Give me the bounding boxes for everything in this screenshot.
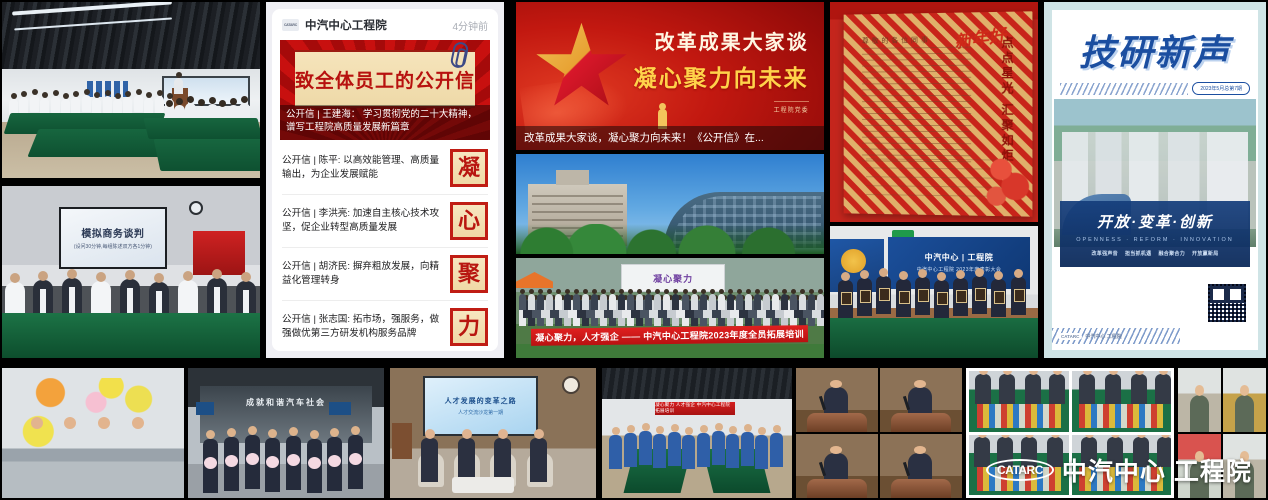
letter-body-text [862, 47, 971, 165]
person [307, 439, 322, 493]
person [591, 294, 598, 310]
screen-subtitle: (设问30分钟,每组陈述双方各1分钟) [74, 243, 152, 250]
panel-discussion-photo[interactable]: 人才发展的变革之路 人才交流沙龙第一期 [390, 368, 596, 498]
person [537, 294, 544, 310]
workshop-grid-photo[interactable] [966, 368, 1174, 498]
panelists [411, 410, 592, 483]
person [82, 95, 91, 112]
person [763, 294, 770, 310]
person [51, 96, 60, 113]
slogan-cn: 开放·变革·创新 [1068, 211, 1242, 232]
person [1190, 461, 1209, 498]
person [697, 433, 710, 467]
ceiling [2, 2, 260, 76]
person [770, 433, 783, 467]
slogan-en: OPENNESS · REFORM · INNOVATION [1068, 237, 1242, 243]
poster-title: 技研新声 [1052, 24, 1258, 76]
banner-text-block: 改革成果大家谈 凝心聚力向未来 工程院党委 [634, 26, 809, 117]
coffee-table [452, 477, 514, 493]
poster-issue-line: 2023年5月总第7期 [1052, 76, 1258, 99]
grass-field [516, 344, 824, 358]
participants [969, 439, 1069, 467]
person [755, 435, 768, 469]
person [754, 294, 761, 310]
award-ceremony-photo[interactable]: 中汽中心 | 工程院 中汽中心工程院 2023年度表彰大会 [830, 226, 1038, 358]
conference-room-image [2, 2, 260, 178]
person [71, 97, 80, 114]
person [59, 427, 81, 493]
person [972, 276, 987, 314]
seal-thumbnail: 聚 [450, 255, 488, 293]
workshop-cell [969, 371, 1069, 432]
participants [1072, 376, 1172, 404]
game-cards [1079, 467, 1163, 491]
list-item[interactable]: 公开信 | 张志国: 拓市场，强服务，做强做优第三方研发机构服务品牌 力 [282, 301, 488, 351]
video-grid-photo[interactable] [1178, 368, 1266, 498]
article-list: 公开信 | 陈平: 以高效能管理、高质量输出，为企业发展赋能 凝 公开信 | 李… [272, 140, 498, 351]
person [624, 433, 637, 467]
person [736, 294, 743, 310]
person [726, 434, 739, 468]
person [600, 294, 607, 310]
attendees [606, 425, 788, 469]
banner-line-3: 工程院党委 [774, 101, 809, 114]
table [153, 139, 260, 171]
negotiation-training-photo[interactable]: 模拟商务谈判 (设问30分钟,每组陈述双方各1分钟) [2, 186, 260, 358]
person [790, 294, 797, 310]
person [224, 437, 239, 491]
letter-paper: 新年好 尊敬的各位同事 点点星光 汇聚如炬 [844, 11, 1033, 217]
person [494, 438, 511, 482]
backdrop-line-1: 中汽中心 | 工程院 [925, 252, 994, 263]
speakers-grid-photo[interactable] [796, 368, 962, 498]
person [582, 294, 589, 310]
open-letter-photo[interactable]: 新年好 尊敬的各位同事 点点星光 汇聚如炬 [830, 2, 1038, 222]
person [286, 436, 301, 490]
person [876, 276, 891, 314]
workshop-cell [1072, 371, 1172, 432]
crowd [516, 288, 824, 326]
speaker-cell [796, 434, 878, 498]
letter-image: 新年好 尊敬的各位同事 点点星光 汇聚如炬 [830, 2, 1038, 222]
person [528, 294, 535, 310]
person [682, 294, 689, 310]
speaker-person [174, 78, 183, 94]
exhibition-hall-photo[interactable]: 成就和谐汽车社会 [188, 368, 384, 498]
person [953, 278, 968, 316]
table [144, 118, 260, 139]
person [609, 294, 616, 310]
person [718, 294, 725, 310]
campus-image [516, 154, 824, 254]
person [896, 279, 911, 317]
person [265, 438, 280, 492]
person [555, 294, 562, 310]
screenshot-canvas: 模拟商务谈判 (设问30分钟,每组陈述双方各1分钟) CATARC 中汽中心工程… [0, 0, 1268, 500]
banner-line-2: 凝心聚力向未来 [634, 59, 809, 93]
award-balloons-photo[interactable] [2, 368, 184, 498]
person [627, 294, 634, 310]
group-photo-image: 凝心聚力 凝心聚力，人才强企 —— 中汽中心工程院2023年度全员拓展培训 [516, 258, 824, 358]
poster-columns: 改革强声音 担当抓机遇 融合聚合力 开放赢新局 [1068, 250, 1242, 257]
speakers-grid [796, 368, 962, 498]
poster-column: 开放赢新局 [1192, 250, 1219, 257]
person [573, 294, 580, 310]
person [1235, 461, 1254, 498]
wechat-article-card[interactable]: CATARC 中汽中心工程院 4分钟前 致全体员工的公开信 公开信 | 王建海：… [266, 2, 504, 358]
person [727, 294, 734, 310]
video-cell [1223, 434, 1266, 498]
person [609, 435, 622, 469]
person [458, 438, 475, 482]
footer-brand-name: 中汽中心 工程院 [1085, 333, 1121, 340]
qr-code-icon[interactable] [1206, 282, 1248, 324]
poster-column: 担当抓机遇 [1125, 250, 1152, 257]
speaker-cell [796, 368, 878, 432]
banner-caption: 改革成果大家谈，凝心聚力向未来！《公开信》在... [516, 126, 824, 150]
poster-column: 融合聚合力 [1159, 250, 1186, 257]
poster-footer-bar: CATARC 中汽中心 工程院 [1052, 328, 1180, 344]
list-item[interactable]: 公开信 | 陈平: 以高效能管理、高质量输出，为企业发展赋能 凝 [282, 142, 488, 195]
workshop-cell [1072, 435, 1172, 496]
person [645, 294, 652, 310]
person [203, 439, 218, 493]
red-banner: 凝心聚力 人才强企 中汽中心工程院 拓展培训 [655, 402, 735, 415]
list-item-title: 公开信 | 李洪亮: 加速自主核心技术攻坚，促企业转型高质量发展 [282, 207, 442, 236]
award-ceremony-image: 中汽中心 | 工程院 中汽中心工程院 2023年度表彰大会 [830, 226, 1038, 358]
podium [807, 413, 866, 432]
video-grid [1178, 368, 1266, 498]
person [19, 97, 28, 114]
screen-line-1: 人才发展的变革之路 [445, 396, 517, 406]
person [781, 294, 788, 310]
person [348, 435, 363, 489]
green-table [830, 318, 1038, 358]
person [103, 96, 112, 113]
campus-buildings-photo[interactable] [516, 154, 824, 254]
person [654, 294, 661, 310]
poster-slogan-block: 开放·变革·创新 OPENNESS · REFORM · INNOVATION … [1060, 201, 1250, 267]
person [838, 280, 853, 318]
person [1190, 395, 1209, 432]
hero-paper: 致全体员工的公开信 [295, 50, 476, 108]
person [327, 437, 342, 491]
person [700, 294, 707, 310]
article-card-body: CATARC 中汽中心工程院 4分钟前 致全体员工的公开信 公开信 | 王建海：… [272, 9, 498, 351]
person [421, 438, 438, 482]
person [808, 294, 815, 310]
account-name: 中汽中心工程院 [305, 17, 387, 33]
person [93, 427, 115, 493]
person [691, 294, 698, 310]
card-header: CATARC 中汽中心工程院 4分钟前 [272, 9, 498, 40]
video-cell [1178, 434, 1221, 498]
negotiation-training-image: 模拟商务谈判 (设问30分钟,每组陈述双方各1分钟) [2, 186, 260, 358]
person [653, 434, 666, 468]
participants [969, 376, 1069, 404]
podium [891, 479, 950, 498]
workshop-grid [966, 368, 1174, 498]
list-item[interactable]: 公开信 | 李洪亮: 加速自主核心技术攻坚，促企业转型高质量发展 心 [282, 195, 488, 248]
ceiling [602, 368, 792, 399]
podium [807, 479, 866, 498]
wall-clock-icon [562, 376, 580, 394]
vertical-title: 点点星光 汇聚如炬 [969, 36, 1016, 164]
person [636, 294, 643, 310]
poster-column: 改革强声音 [1091, 250, 1118, 257]
person [123, 97, 132, 114]
hatch-decoration [1060, 83, 1188, 95]
person [668, 432, 681, 466]
red-star-image: 改革成果大家谈 凝心聚力向未来 工程院党委 改革成果大家谈，凝心聚力向未来！《公… [516, 2, 824, 150]
red-star-banner[interactable]: 改革成果大家谈 凝心聚力向未来 工程院党委 改革成果大家谈，凝心聚力向未来！《公… [516, 2, 824, 150]
person [915, 277, 930, 315]
person [857, 278, 872, 316]
person [618, 294, 625, 310]
game-cards [1079, 404, 1163, 428]
game-cards [977, 404, 1061, 428]
person [30, 95, 39, 112]
award-recipients [13, 415, 173, 493]
hero-headline: 致全体员工的公开信 [295, 66, 475, 93]
person [127, 427, 149, 493]
person [1235, 395, 1254, 432]
list-item-title: 公开信 | 张志国: 拓市场，强服务，做强做优第三方研发机构服务品牌 [282, 313, 442, 342]
person [546, 294, 553, 310]
person [663, 294, 670, 310]
staff-row [196, 425, 376, 493]
screen-title: 模拟商务谈判 [81, 225, 144, 240]
game-cards [977, 467, 1061, 491]
person [530, 438, 547, 482]
person [672, 294, 679, 310]
footer-logo-icon: CATARC [1058, 333, 1082, 340]
hero-caption: 公开信 | 王建海： 学习贯彻党的二十大精神，谱写工程院高质量发展新篇章 [280, 105, 490, 140]
person [712, 431, 725, 465]
person [26, 427, 48, 493]
video-cell [1178, 368, 1221, 432]
list-item-title: 公开信 | 陈平: 以高效能管理、高质量输出，为企业发展赋能 [282, 154, 442, 183]
account-logo-icon: CATARC [282, 19, 299, 31]
person [991, 279, 1006, 317]
person [799, 294, 806, 310]
person [934, 280, 949, 318]
banner-line-1: 改革成果大家谈 [634, 26, 809, 55]
person [817, 294, 824, 310]
person [772, 294, 779, 310]
person [741, 432, 754, 466]
hero-article[interactable]: 致全体员工的公开信 公开信 | 王建海： 学习贯彻党的二十大精神，谱写工程院高质… [280, 40, 490, 140]
magazine-poster[interactable]: 技研新声 2023年5月总第7期 开放·变革·创新 OPENNESS · REF… [1044, 2, 1266, 358]
hall-sign-text: 成就和谐汽车社会 [231, 397, 341, 413]
group-training-photo[interactable]: 凝心聚力 凝心聚力，人才强企 —— 中汽中心工程院2023年度全员拓展培训 [516, 258, 824, 358]
podium [392, 423, 412, 459]
podium [891, 413, 950, 432]
green-table [2, 313, 260, 358]
trees [516, 224, 824, 254]
video-cell [1223, 368, 1266, 432]
poster-body: 技研新声 2023年5月总第7期 开放·变革·创新 OPENNESS · REF… [1052, 10, 1258, 350]
person [245, 435, 260, 489]
person [519, 294, 526, 310]
seal-thumbnail: 力 [450, 308, 488, 346]
participants [1072, 439, 1172, 467]
seal-thumbnail: 心 [450, 202, 488, 240]
list-item-title: 公开信 | 胡济民: 摒弃粗放发展，向精益化管理转身 [282, 260, 442, 289]
person [134, 95, 143, 112]
poster-footer: CATARC 中汽中心 工程院 [1052, 267, 1258, 350]
person [1011, 277, 1026, 315]
person [564, 294, 571, 310]
conference-room-photo[interactable] [2, 2, 260, 178]
timestamp: 4分钟前 [452, 18, 488, 33]
list-item[interactable]: 公开信 | 胡济民: 摒弃粗放发展，向精益化管理转身 聚 [282, 248, 488, 301]
speaker-cell [880, 434, 962, 498]
person [709, 294, 716, 310]
stage-board-text: 凝心聚力 [653, 272, 693, 285]
issue-badge: 2023年5月总第7期 [1192, 82, 1250, 95]
salutation: 尊敬的各位同事 [862, 35, 931, 46]
person [639, 431, 652, 465]
person [745, 294, 752, 310]
seal-thumbnail: 凝 [450, 149, 488, 187]
speaker-cell [880, 368, 962, 432]
lantern-ornament-icon [982, 148, 1029, 211]
person [682, 435, 695, 469]
awardees-row [834, 279, 1034, 319]
workshop-cell [969, 435, 1069, 496]
training-meeting-photo[interactable]: 凝心聚力 人才强企 中汽中心工程院 拓展培训 [602, 368, 792, 498]
